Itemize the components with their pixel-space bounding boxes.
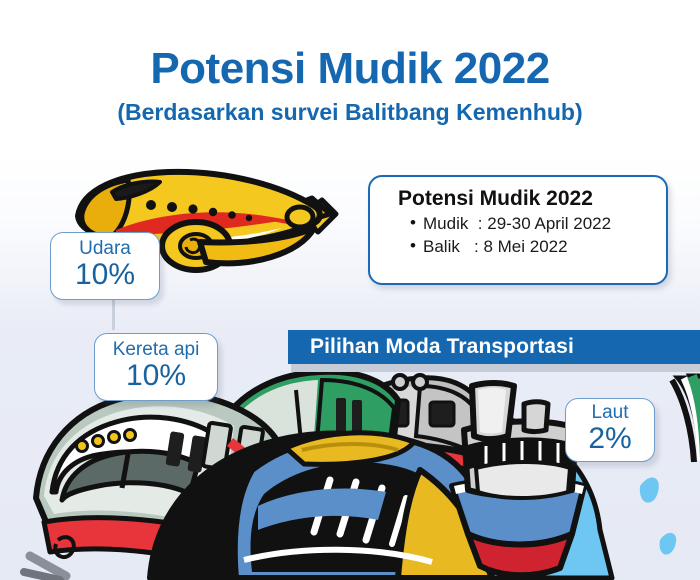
page-subtitle: (Berdasarkan survei Balitbang Kemenhub) [0, 100, 700, 125]
stat-chip-udara-label: Udara [51, 239, 159, 260]
stat-chip-kereta-api-value: 10% [95, 360, 217, 392]
stat-chip-udara: Udara 10% [50, 232, 160, 300]
stat-chip-udara-value: 10% [51, 259, 159, 291]
banner-label: Pilihan Moda Transportasi [310, 335, 574, 359]
info-card-item-mudik: Mudik : 29-30 April 2022 [410, 213, 666, 236]
infographic-root: Potensi Mudik 2022 (Berdasarkan survei B… [0, 0, 700, 580]
stat-chip-kereta-api: Kereta api 10% [94, 333, 218, 401]
info-card-title: Potensi Mudik 2022 [398, 187, 666, 211]
stat-chip-laut-value: 2% [566, 423, 654, 455]
stat-chip-kereta-api-label: Kereta api [95, 340, 217, 361]
section-banner-transport-modes: Pilihan Moda Transportasi [288, 330, 700, 364]
info-card: Potensi Mudik 2022 Mudik : 29-30 April 2… [368, 175, 668, 285]
header: Potensi Mudik 2022 (Berdasarkan survei B… [0, 46, 700, 125]
info-card-item-balik: Balik : 8 Mei 2022 [410, 236, 666, 259]
stat-chip-laut: Laut 2% [565, 398, 655, 462]
page-title: Potensi Mudik 2022 [0, 46, 700, 92]
banner-shadow [291, 364, 700, 372]
info-card-list: Mudik : 29-30 April 2022 Balik : 8 Mei 2… [410, 213, 666, 258]
green-vehicle-edge-illustration [672, 376, 700, 462]
stat-chip-laut-label: Laut [566, 403, 654, 424]
